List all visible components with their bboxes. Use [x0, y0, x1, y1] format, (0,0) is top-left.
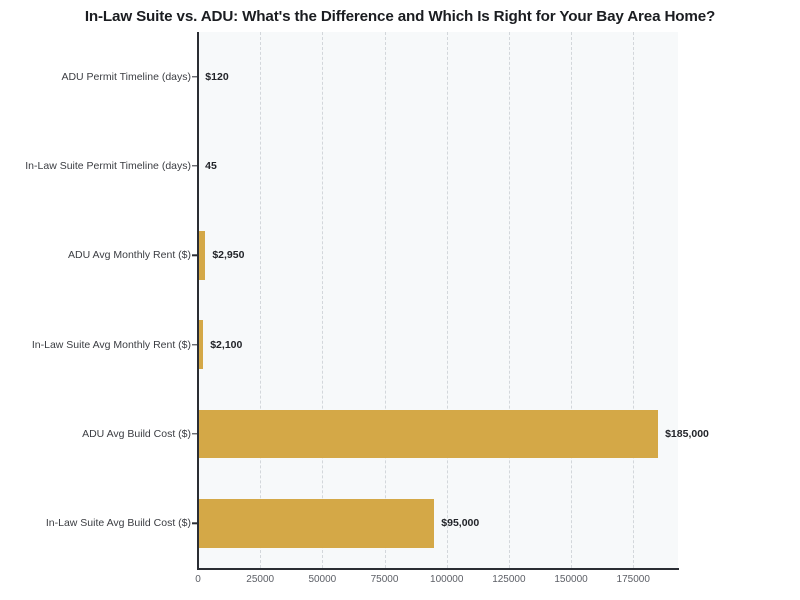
- y-tick-mark: [192, 76, 197, 77]
- x-tick-label: 25000: [246, 574, 274, 585]
- bar-value-label: $185,000: [665, 428, 709, 440]
- y-tick-mark: [192, 255, 197, 256]
- bar-row: $185,000: [198, 410, 678, 459]
- y-tick-label: ADU Avg Monthly Rent ($): [68, 249, 191, 261]
- x-tick-label: 100000: [430, 574, 463, 585]
- bar[interactable]: [198, 231, 205, 280]
- y-axis-spine: [197, 32, 199, 569]
- y-tick-label: In-Law Suite Permit Timeline (days): [25, 160, 191, 172]
- bar-row: $95,000: [198, 499, 678, 548]
- y-tick-mark: [192, 344, 197, 345]
- bar-value-label: $120: [205, 71, 228, 83]
- y-tick-label: In-Law Suite Avg Build Cost ($): [46, 517, 191, 529]
- bar[interactable]: [198, 499, 434, 548]
- bar-value-label: $95,000: [441, 517, 479, 529]
- x-tick-label: 150000: [554, 574, 587, 585]
- chart-title: In-Law Suite vs. ADU: What's the Differe…: [0, 8, 800, 25]
- x-tick-label: 125000: [492, 574, 525, 585]
- x-axis-spine: [197, 568, 679, 570]
- chart-figure: In-Law Suite vs. ADU: What's the Differe…: [0, 0, 800, 600]
- y-tick-mark: [192, 523, 197, 524]
- y-tick-label: In-Law Suite Avg Monthly Rent ($): [32, 339, 191, 351]
- bar-value-label: $2,100: [210, 339, 242, 351]
- bar[interactable]: [198, 410, 658, 459]
- bar-row: $2,100: [198, 320, 678, 369]
- x-tick-label: 75000: [371, 574, 399, 585]
- bar-row: $2,950: [198, 231, 678, 280]
- plot-area: $95,000$185,000$2,100$2,95045$120: [198, 32, 678, 568]
- bar[interactable]: [198, 320, 203, 369]
- x-tick-label: 50000: [308, 574, 336, 585]
- bar-series: $95,000$185,000$2,100$2,95045$120: [198, 32, 678, 568]
- bar-row: $120: [198, 52, 678, 101]
- y-tick-label: ADU Avg Build Cost ($): [82, 428, 191, 440]
- y-tick-mark: [192, 433, 197, 434]
- x-tick-label: 0: [195, 574, 201, 585]
- y-tick-mark: [192, 165, 197, 166]
- y-tick-label: ADU Permit Timeline (days): [61, 71, 191, 83]
- bar-value-label: $2,950: [212, 249, 244, 261]
- bar-row: 45: [198, 142, 678, 191]
- bar-value-label: 45: [205, 160, 217, 172]
- x-tick-label: 175000: [617, 574, 650, 585]
